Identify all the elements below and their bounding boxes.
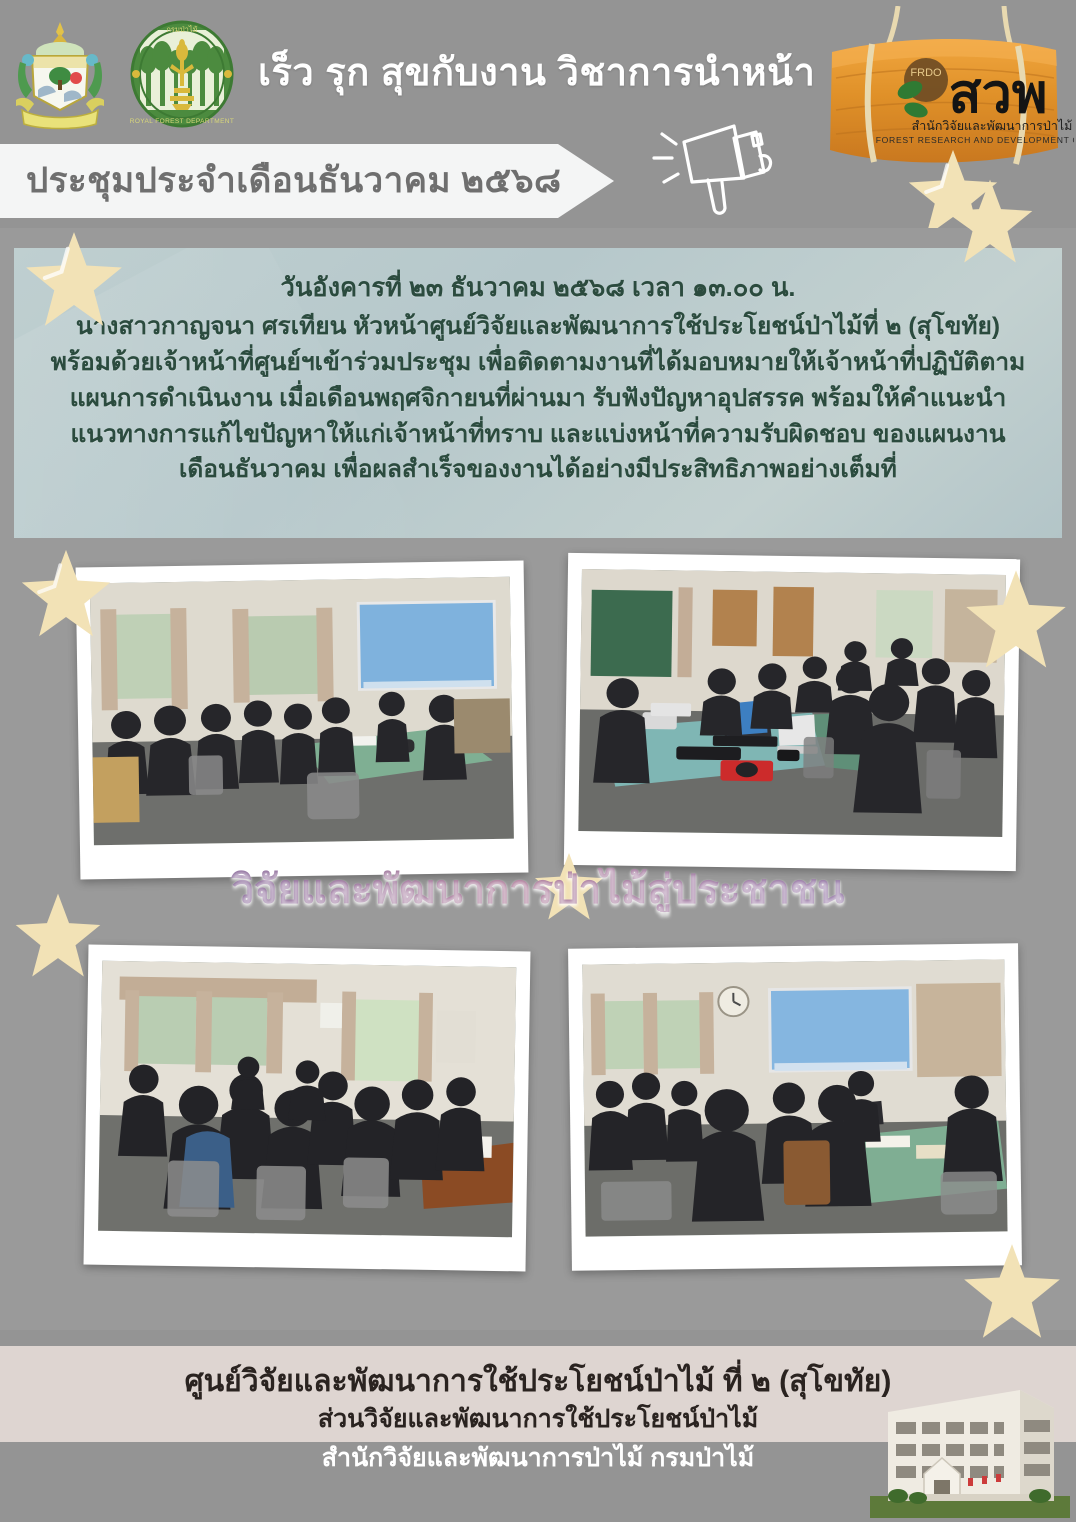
header-band: กรมป่าไม้ ROYAL FOREST DEPARTMENT เร็ว ร… xyxy=(0,0,1076,228)
frdo-thai-name: สำนักวิจัยและพัฒนาการป่าไม้ xyxy=(912,118,1073,133)
announcement-line-5: แนวทางการแก้ไขปัญหาให้แก่เจ้าหน้าที่ทราบ… xyxy=(30,417,1046,453)
megaphone-icon xyxy=(648,112,788,224)
announcement-panel: วันอังคารที่ ๒๓ ธันวาคม ๒๕๖๘ เวลา ๑๓.๐๐ … xyxy=(14,248,1062,538)
government-office-building-icon xyxy=(870,1374,1070,1518)
frdo-badge-text: FRDO xyxy=(910,67,942,79)
royal-forest-department-seal-icon: กรมป่าไม้ ROYAL FOREST DEPARTMENT xyxy=(128,18,236,130)
photo-gallery: วิจัยและพัฒนาการป่าไม้สู่ประชาชน xyxy=(0,538,1076,1338)
title-ribbon-text: ประชุมประจำเดือนธันวาคม ๒๕๖๘ xyxy=(0,162,561,201)
photo-frame-3[interactable] xyxy=(84,945,531,1272)
svg-text:ROYAL FOREST DEPARTMENT: ROYAL FOREST DEPARTMENT xyxy=(130,118,235,125)
poster-root: กรมป่าไม้ ROYAL FOREST DEPARTMENT เร็ว ร… xyxy=(0,0,1076,1522)
svg-text:กรมป่าไม้: กรมป่าไม้ xyxy=(166,25,197,34)
announcement-line-6: เดือนธันวาคม เพื่อผลสำเร็จของงานได้อย่าง… xyxy=(30,452,1046,488)
meeting-photo-4 xyxy=(582,959,1007,1236)
announcement-line-3: พร้อมด้วยเจ้าหน้าที่ศูนย์ฯเข้าร่วมประชุม… xyxy=(30,345,1046,381)
photo-frame-1[interactable] xyxy=(76,561,529,880)
frdo-abbrev-text: สวพ xyxy=(949,62,1048,125)
ministry-crest-emblem-icon xyxy=(8,18,112,130)
frdo-english-name: FOREST RESEARCH AND DEVELOPMENT OFFICE xyxy=(876,135,1074,145)
title-ribbon: ประชุมประจำเดือนธันวาคม ๒๕๖๘ xyxy=(0,144,614,218)
frdo-wood-sign-logo: FRDO สวพ สำนักวิจัยและพัฒนาการป่าไม้ FOR… xyxy=(806,6,1074,196)
photo-overlay-slogan: วิจัยและพัฒนาการป่าไม้สู่ประชาชน xyxy=(0,868,1076,912)
meeting-photo-3 xyxy=(98,961,516,1237)
photo-frame-4[interactable] xyxy=(568,943,1022,1270)
photo-frame-2[interactable] xyxy=(564,553,1020,871)
announcement-text: วันอังคารที่ ๒๓ ธันวาคม ๒๕๖๘ เวลา ๑๓.๐๐ … xyxy=(14,248,1062,488)
announcement-line-1: วันอังคารที่ ๒๓ ธันวาคม ๒๕๖๘ เวลา ๑๓.๐๐ … xyxy=(30,270,1046,307)
meeting-photo-2 xyxy=(578,569,1006,837)
footer-band: ศูนย์วิจัยและพัฒนาการใช้ประโยชน์ป่าไม้ ท… xyxy=(0,1346,1076,1522)
meeting-photo-1 xyxy=(90,577,514,846)
header-slogan: เร็ว รุก สุขกับงาน วิชาการนำหน้า xyxy=(258,52,818,96)
announcement-line-2: นางสาวกาญจนา ศรเทียน หัวหน้าศูนย์วิจัยแล… xyxy=(30,309,1046,345)
announcement-line-4: แผนการดำเนินงาน เมื่อเดือนพฤศจิกายนที่ผ่… xyxy=(30,381,1046,417)
